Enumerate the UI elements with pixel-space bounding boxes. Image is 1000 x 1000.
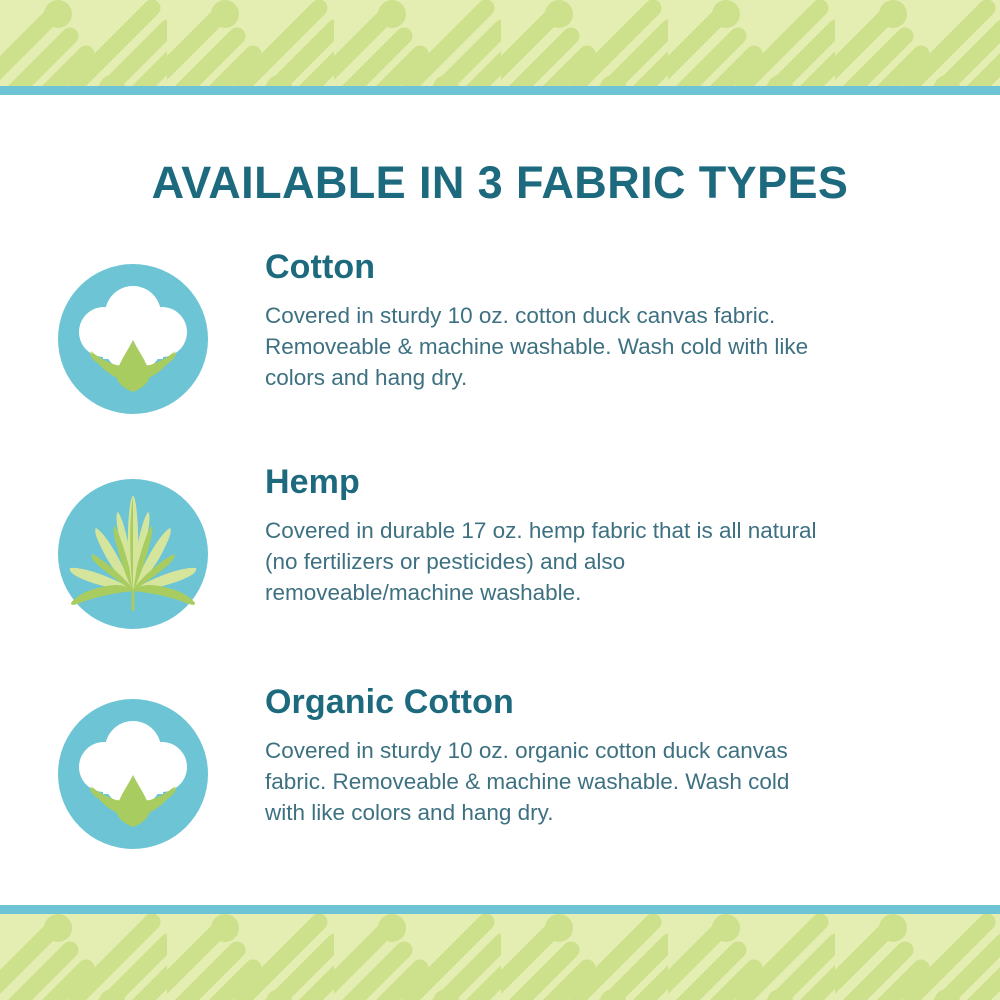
fabric-list: Cotton Covered in sturdy 10 oz. cotton d… xyxy=(0,250,1000,885)
fabric-name: Cotton xyxy=(265,250,930,286)
top-stripe-pattern xyxy=(0,0,1000,86)
list-item: Organic Cotton Covered in sturdy 10 oz. … xyxy=(0,685,1000,885)
fabric-name: Hemp xyxy=(265,465,930,501)
cotton-boll-icon xyxy=(58,699,208,849)
fabric-icon-cell xyxy=(0,465,265,629)
fabric-description: Covered in sturdy 10 oz. organic cotton … xyxy=(265,735,825,828)
fabric-icon-cell xyxy=(0,250,265,414)
top-teal-rule xyxy=(0,86,1000,95)
top-decorative-band xyxy=(0,0,1000,95)
bottom-stripe-pattern xyxy=(0,914,1000,1000)
fabric-name: Organic Cotton xyxy=(265,685,930,721)
bottom-decorative-band xyxy=(0,905,1000,1000)
fabric-description: Covered in sturdy 10 oz. cotton duck can… xyxy=(265,300,825,393)
fabric-text-cell: Organic Cotton Covered in sturdy 10 oz. … xyxy=(265,685,1000,828)
list-item: Hemp Covered in durable 17 oz. hemp fabr… xyxy=(0,465,1000,685)
list-item: Cotton Covered in sturdy 10 oz. cotton d… xyxy=(0,250,1000,465)
hemp-leaf-icon xyxy=(58,479,208,629)
fabric-description: Covered in durable 17 oz. hemp fabric th… xyxy=(265,515,825,608)
page-title: AVAILABLE IN 3 FABRIC TYPES xyxy=(0,158,1000,208)
fabric-text-cell: Cotton Covered in sturdy 10 oz. cotton d… xyxy=(265,250,1000,393)
fabric-text-cell: Hemp Covered in durable 17 oz. hemp fabr… xyxy=(265,465,1000,608)
fabric-icon-cell xyxy=(0,685,265,849)
cotton-boll-icon xyxy=(58,264,208,414)
infographic-page: AVAILABLE IN 3 FABRIC TYPES xyxy=(0,0,1000,1000)
bottom-teal-rule xyxy=(0,905,1000,914)
